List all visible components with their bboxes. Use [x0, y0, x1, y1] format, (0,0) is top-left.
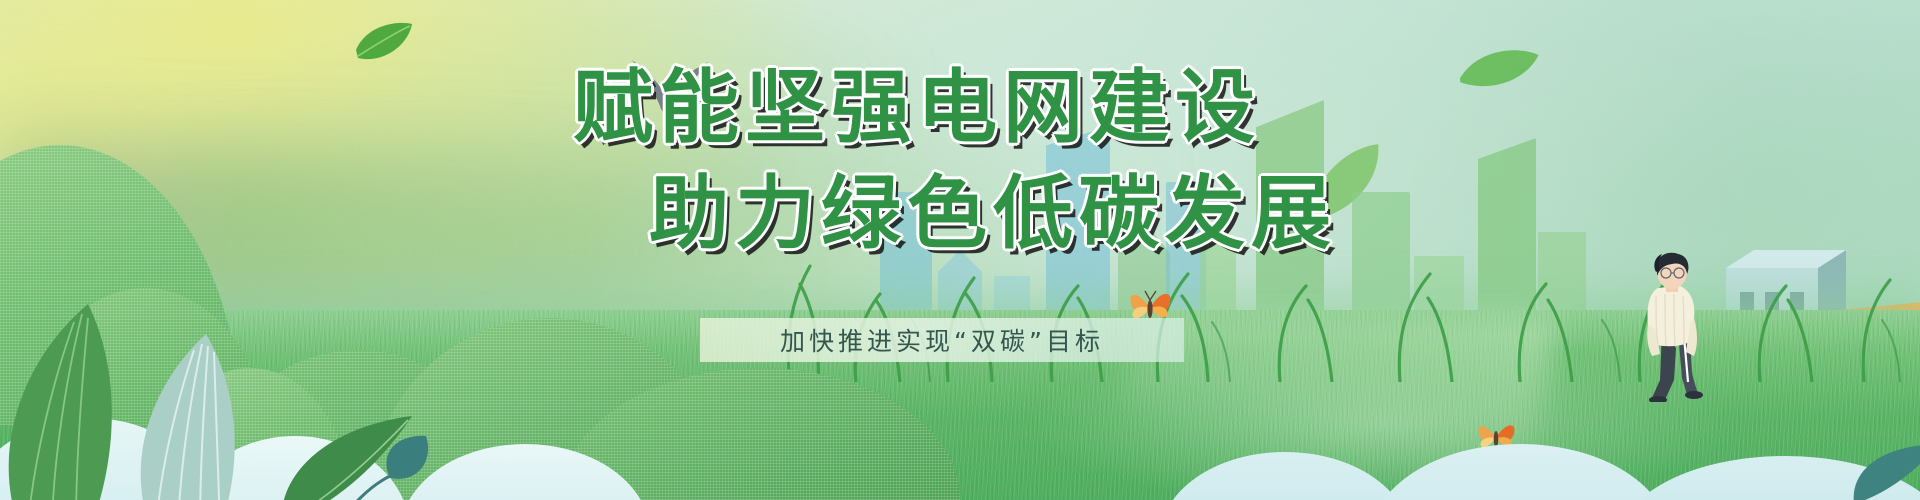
foreground-leaf-right-teal — [1852, 438, 1920, 500]
foreground-leaf-teal-stem — [312, 426, 442, 500]
walking-person-illustration — [1632, 252, 1718, 402]
subtitle-bar: 加快推进实现“双碳”目标 — [700, 318, 1184, 362]
foreground-leaf-pale-teal — [110, 330, 290, 500]
flying-leaf-icon-1 — [352, 20, 416, 64]
swallow-bird-icon — [628, 58, 714, 120]
eco-power-grid-banner: 赋能坚强电网建设 助力绿色低碳发展 加快推进实现“双碳”目标 — [0, 0, 1920, 500]
subtitle-text: 加快推进实现“双碳”目标 — [700, 318, 1184, 362]
